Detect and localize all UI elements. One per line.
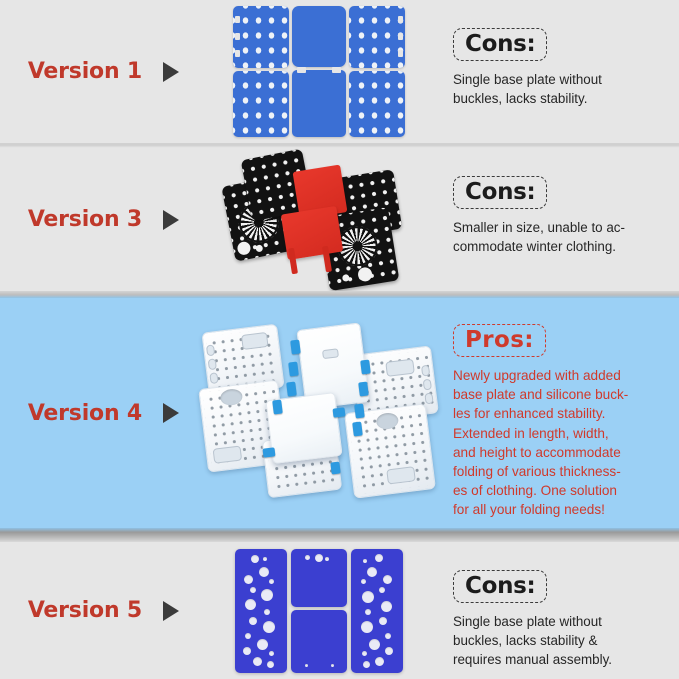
version-label: Version 4 <box>28 401 142 426</box>
cons-description: Smaller in size, unable to ac- commodate… <box>453 218 658 256</box>
version-label: Version 3 <box>28 207 142 232</box>
cons-badge: Cons: <box>453 176 547 209</box>
triangle-right-icon <box>160 60 182 84</box>
verdict-column-version-4: Pros: Newly upgraded with added base pla… <box>441 298 679 519</box>
version-label: Version 1 <box>28 59 142 84</box>
pros-description: Newly upgraded with added base plate and… <box>453 366 663 519</box>
cons-description: Single base plate without buckles, lacks… <box>453 612 658 669</box>
comparison-row-version-5: Version 5 <box>0 542 679 679</box>
pros-badge: Pros: <box>453 324 546 357</box>
version-label-column: Version 1 <box>0 59 196 84</box>
product-image-version-5 <box>196 542 441 679</box>
verdict-column-version-1: Cons: Single base plate without buckles,… <box>441 0 679 108</box>
version-label-column: Version 3 <box>0 207 196 232</box>
comparison-row-version-3: Version 3 <box>0 148 679 291</box>
blue-dotted-folding-board <box>233 6 405 137</box>
product-image-version-4 <box>196 298 441 528</box>
version-label: Version 5 <box>28 598 142 623</box>
verdict-column-version-3: Cons: Smaller in size, unable to ac- com… <box>441 148 679 256</box>
cons-badge: Cons: <box>453 570 547 603</box>
white-perforated-folding-board-with-blue-buckles <box>203 322 435 504</box>
product-version-comparison-infographic: Version 1 <box>0 0 679 679</box>
product-image-version-3 <box>196 148 441 291</box>
row-divider <box>0 291 679 298</box>
comparison-row-version-1: Version 1 <box>0 0 679 143</box>
row-divider <box>0 528 679 542</box>
black-red-folding-board <box>224 150 414 290</box>
comparison-row-version-4: Version 4 <box>0 298 679 528</box>
cons-badge: Cons: <box>453 28 547 61</box>
blue-circle-hole-folding-board <box>235 549 403 673</box>
cons-description: Single base plate without buckles, lacks… <box>453 70 658 108</box>
product-image-version-1 <box>196 0 441 143</box>
triangle-right-icon <box>160 599 182 623</box>
version-label-column: Version 5 <box>0 598 196 623</box>
triangle-right-icon <box>160 208 182 232</box>
verdict-column-version-5: Cons: Single base plate without buckles,… <box>441 542 679 669</box>
version-label-column: Version 4 <box>0 401 196 426</box>
triangle-right-icon <box>160 401 182 425</box>
